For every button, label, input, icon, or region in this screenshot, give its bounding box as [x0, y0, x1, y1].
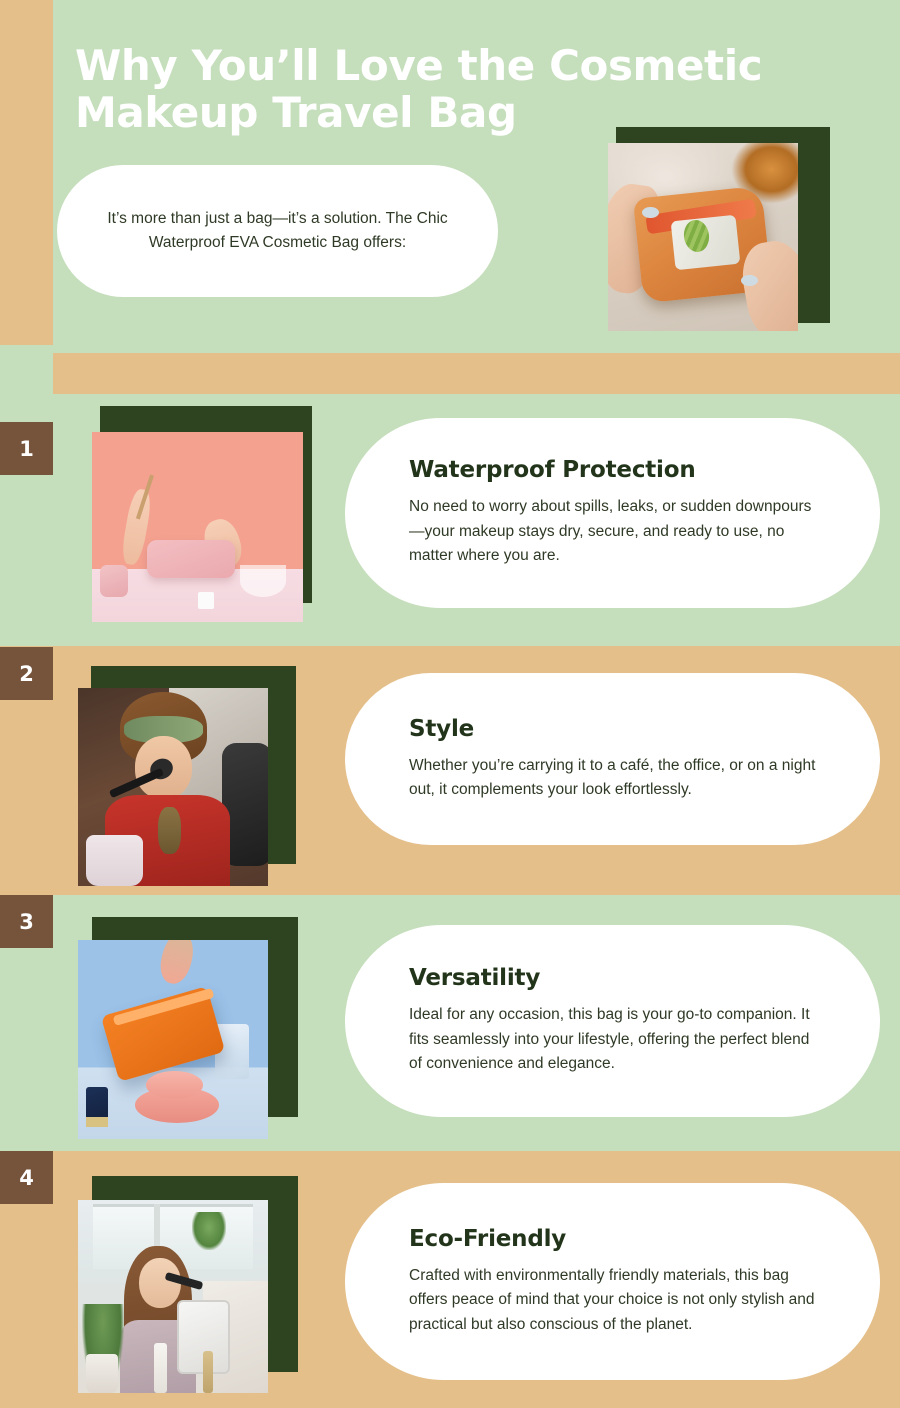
- feature-image-1-photo: [92, 432, 303, 622]
- infographic-page: Why You’ll Love the Cosmetic Makeup Trav…: [0, 0, 900, 1408]
- feature-number-4: 4: [19, 1166, 34, 1190]
- feature-row-2: 2 Style: [0, 646, 900, 895]
- hero-image-photo: [608, 143, 798, 331]
- feature-image-3: [78, 917, 298, 1139]
- feature-number-badge-2: 2: [0, 647, 53, 700]
- header-divider-band: [53, 353, 900, 394]
- feature-image-2-photo: [78, 688, 268, 886]
- feature-number-3: 3: [19, 910, 34, 934]
- feature-heading-2: Style: [409, 716, 816, 742]
- feature-body-1: No need to worry about spills, leaks, or…: [409, 495, 816, 568]
- feature-number-1: 1: [19, 437, 34, 461]
- feature-number-badge-3: 3: [0, 895, 53, 948]
- feature-body-2: Whether you’re carrying it to a café, th…: [409, 754, 816, 803]
- header-left-accent-strip: [0, 0, 53, 345]
- feature-card-4: Eco-Friendly Crafted with environmentall…: [345, 1183, 880, 1380]
- feature-image-4: [78, 1176, 298, 1393]
- feature-heading-4: Eco-Friendly: [409, 1226, 816, 1252]
- intro-pill: It’s more than just a bag—it’s a solutio…: [57, 165, 498, 297]
- intro-text: It’s more than just a bag—it’s a solutio…: [97, 207, 458, 255]
- feature-number-badge-1: 1: [0, 422, 53, 475]
- feature-row-3: 3 Versatility Ideal for any: [0, 895, 900, 1151]
- feature-image-3-photo: [78, 940, 268, 1139]
- feature-image-4-photo: [78, 1200, 268, 1393]
- feature-image-1: [92, 406, 312, 622]
- feature-row-1: 1 Waterproof Protection No need to worr: [0, 394, 900, 646]
- page-title: Why You’ll Love the Cosmetic Makeup Trav…: [75, 42, 820, 136]
- feature-body-4: Crafted with environmentally friendly ma…: [409, 1264, 816, 1337]
- feature-heading-3: Versatility: [409, 965, 816, 991]
- feature-card-1: Waterproof Protection No need to worry a…: [345, 418, 880, 608]
- feature-card-2: Style Whether you’re carrying it to a ca…: [345, 673, 880, 845]
- feature-body-3: Ideal for any occasion, this bag is your…: [409, 1003, 816, 1076]
- feature-heading-1: Waterproof Protection: [409, 457, 816, 483]
- feature-row-4: 4: [0, 1151, 900, 1408]
- header-section: Why You’ll Love the Cosmetic Makeup Trav…: [0, 0, 900, 345]
- hero-image: [608, 127, 830, 331]
- feature-number-2: 2: [19, 662, 34, 686]
- feature-image-2: [78, 666, 296, 886]
- feature-card-3: Versatility Ideal for any occasion, this…: [345, 925, 880, 1117]
- feature-number-badge-4: 4: [0, 1151, 53, 1204]
